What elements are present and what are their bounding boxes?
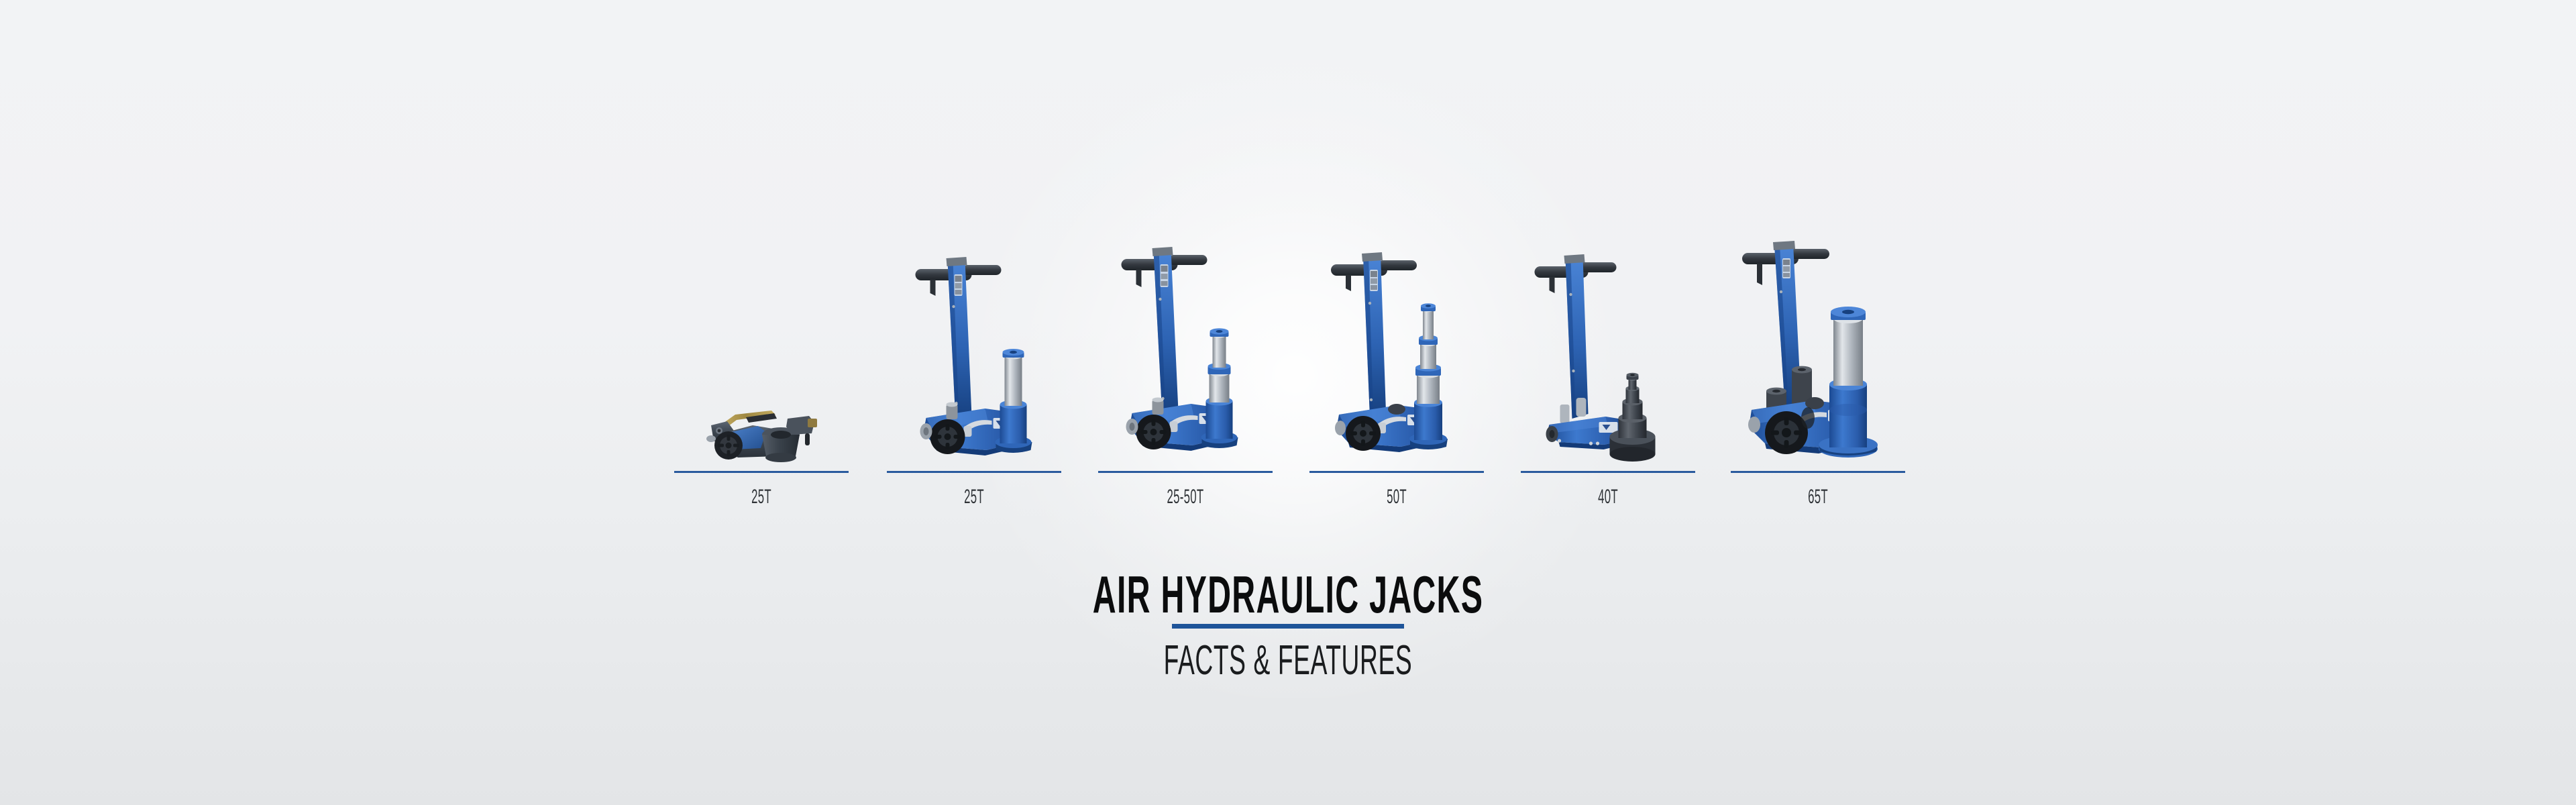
low-profile-air-hydraulic-jack-icon <box>696 396 830 476</box>
product-label-1: 25T <box>925 486 1023 508</box>
poster-stage: 25T 25T 25-50T 50T 40T 65T AIR HYDRAULIC… <box>0 0 2576 805</box>
product-cell-0[interactable] <box>674 114 852 476</box>
product-label-2: 25-50T <box>1136 486 1234 508</box>
air-hydraulic-jack-single-stage-icon <box>906 245 1050 476</box>
product-label-4: 40T <box>1559 486 1657 508</box>
divider-3 <box>1309 471 1484 473</box>
divider-1 <box>887 471 1061 473</box>
air-hydraulic-jack-heavy-duty-icon <box>1727 231 1895 476</box>
divider-2 <box>1098 471 1273 473</box>
product-cell-5[interactable] <box>1717 114 1905 476</box>
air-hydraulic-jack-two-stage-icon <box>1112 235 1256 476</box>
product-cell-1[interactable] <box>889 114 1067 476</box>
page-subtitle: FACTS & FEATURES <box>515 637 2061 684</box>
product-label-3: 50T <box>1348 486 1446 508</box>
product-label-5: 65T <box>1769 486 1867 508</box>
title-underline <box>1172 624 1404 629</box>
air-hydraulic-jack-dark-ram-icon <box>1523 245 1668 476</box>
divider-0 <box>674 471 849 473</box>
product-cell-4[interactable] <box>1507 114 1684 476</box>
headline-block: AIR HYDRAULIC JACKS FACTS & FEATURES <box>0 569 2576 684</box>
product-label-0: 25T <box>712 486 810 508</box>
product-cell-3[interactable] <box>1301 114 1479 476</box>
product-label-row: 25T 25T 25-50T 50T 40T 65T <box>674 471 1905 551</box>
divider-4 <box>1521 471 1695 473</box>
air-hydraulic-jack-three-stage-icon <box>1316 241 1464 476</box>
product-cell-2[interactable] <box>1095 114 1273 476</box>
divider-5 <box>1731 471 1905 473</box>
product-row <box>674 101 1905 476</box>
page-title: AIR HYDRAULIC JACKS <box>490 569 2087 620</box>
